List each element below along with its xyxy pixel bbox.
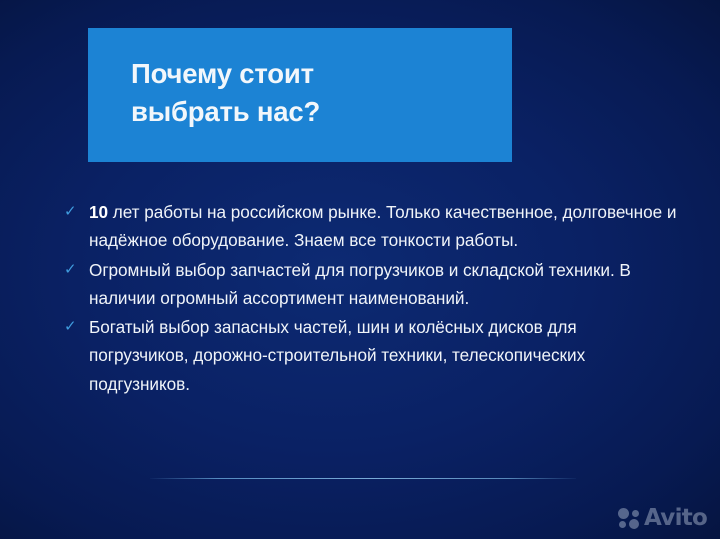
avito-wordmark: Avito (644, 507, 707, 530)
check-icon: ✓ (64, 198, 82, 226)
benefits-list: ✓ 10 лет работы на российском рынке. Тол… (62, 198, 680, 399)
list-item-text: Богатый выбор запасных частей, шин и кол… (89, 317, 585, 394)
avito-logo-icon (618, 507, 641, 529)
list-item-body: Огромный выбор запчастей для погрузчиков… (89, 260, 631, 308)
list-item-body: лет работы на российском рынке. Только к… (89, 202, 676, 250)
list-item-text: 10 лет работы на российском рынке. Тольк… (89, 202, 676, 250)
page-title: Почему стоит выбрать нас? (131, 55, 491, 130)
title-block: Почему стоит выбрать нас? (88, 28, 512, 162)
list-item-lead-number: 10 (89, 202, 108, 222)
list-item-body: Богатый выбор запасных частей, шин и кол… (89, 317, 585, 394)
slide-canvas: Почему стоит выбрать нас? ✓ 10 лет работ… (0, 0, 720, 539)
list-item: ✓ 10 лет работы на российском рынке. Тол… (62, 198, 680, 255)
divider (150, 478, 576, 479)
check-icon: ✓ (64, 313, 82, 341)
list-item-text: Огромный выбор запчастей для погрузчиков… (89, 260, 631, 308)
avito-watermark: Avito (618, 503, 714, 533)
check-icon: ✓ (64, 256, 82, 284)
list-item: ✓ Богатый выбор запасных частей, шин и к… (62, 313, 680, 398)
list-item: ✓ Огромный выбор запчастей для погрузчик… (62, 256, 680, 313)
